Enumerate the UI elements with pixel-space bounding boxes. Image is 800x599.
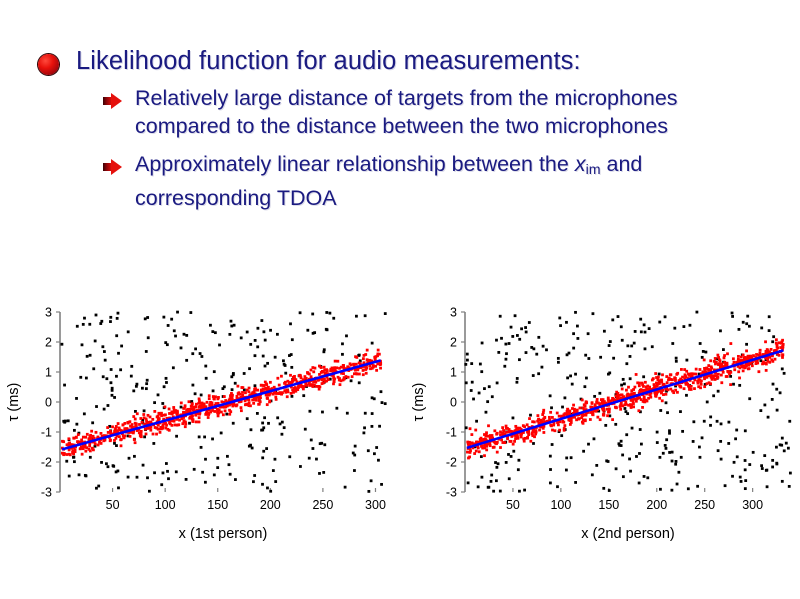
clutter-point [127, 476, 130, 479]
clutter-point [701, 436, 704, 439]
clutter-point [720, 458, 723, 461]
clutter-point [83, 412, 86, 415]
target-point [738, 377, 741, 380]
target-point [473, 452, 476, 455]
target-point [134, 422, 137, 425]
clutter-point [572, 347, 575, 350]
target-point [629, 403, 632, 406]
clutter-point [625, 433, 628, 436]
clutter-point [724, 484, 727, 487]
clutter-point [194, 348, 197, 351]
clutter-point [692, 440, 695, 443]
clutter-point [199, 352, 202, 355]
target-point [315, 385, 318, 388]
target-point [94, 443, 97, 446]
target-point [693, 373, 696, 376]
target-point [624, 403, 627, 406]
red-sphere-bullet-icon [38, 54, 59, 75]
clutter-point [216, 457, 219, 460]
target-point [723, 354, 726, 357]
target-point [209, 404, 212, 407]
target-point [248, 398, 251, 401]
clutter-point [705, 351, 708, 354]
target-point [191, 402, 194, 405]
clutter-point [288, 455, 291, 458]
target-point [695, 368, 698, 371]
target-point [506, 427, 509, 430]
target-point [166, 428, 169, 431]
clutter-point [772, 335, 775, 338]
clutter-point [341, 342, 344, 345]
target-point [747, 355, 750, 358]
target-point [703, 367, 706, 370]
target-point [100, 432, 103, 435]
target-point [499, 446, 502, 449]
clutter-point [608, 489, 611, 492]
clutter-point [658, 321, 661, 324]
clutter-point [731, 475, 734, 478]
linear-fit-line [467, 350, 783, 448]
target-point [742, 369, 745, 372]
clutter-point [254, 384, 257, 387]
clutter-point [549, 394, 552, 397]
target-point [349, 362, 352, 365]
clutter-point [85, 377, 88, 380]
scatter-plot-1st-person: -3-2-1012350100150200250300x (1st person… [0, 300, 400, 550]
clutter-point [232, 422, 235, 425]
clutter-point [143, 435, 146, 438]
target-point [111, 425, 114, 428]
target-point [332, 379, 335, 382]
clutter-point [212, 389, 215, 392]
target-point [533, 421, 536, 424]
target-point [177, 423, 180, 426]
target-point [286, 380, 289, 383]
target-point [192, 420, 195, 423]
target-point [765, 357, 768, 360]
clutter-point [113, 396, 116, 399]
target-point [688, 388, 691, 391]
clutter-point [203, 436, 206, 439]
clutter-point [618, 444, 621, 447]
target-point [674, 377, 677, 380]
clutter-point [734, 437, 737, 440]
clutter-point [783, 372, 786, 375]
clutter-point [204, 481, 207, 484]
clutter-point [687, 487, 690, 490]
clutter-point [658, 373, 661, 376]
clutter-point [94, 340, 97, 343]
y-tick-label: 3 [450, 306, 457, 320]
clutter-point [523, 489, 526, 492]
target-point [496, 451, 499, 454]
target-point [377, 349, 380, 352]
target-point [513, 440, 516, 443]
target-point [216, 412, 219, 415]
clutter-point [698, 446, 701, 449]
clutter-point [291, 338, 294, 341]
clutter-point [640, 443, 643, 446]
target-point [626, 394, 629, 397]
clutter-point [634, 330, 637, 333]
clutter-point [659, 488, 662, 491]
clutter-point [671, 489, 674, 492]
target-point [680, 368, 683, 371]
clutter-point [174, 335, 177, 338]
clutter-point [229, 473, 232, 476]
target-point [716, 377, 719, 380]
target-point [599, 418, 602, 421]
target-point [236, 385, 239, 388]
target-point [100, 442, 103, 445]
clutter-point [541, 366, 544, 369]
clutter-point [668, 432, 671, 435]
target-point [683, 387, 686, 390]
target-point [762, 361, 765, 364]
clutter-point [677, 471, 680, 474]
target-point [266, 387, 269, 390]
target-point [184, 404, 187, 407]
target-point [693, 387, 696, 390]
clutter-point [595, 464, 598, 467]
clutter-point [572, 332, 575, 335]
target-point [376, 354, 379, 357]
clutter-point [384, 312, 387, 315]
clutter-point [529, 414, 532, 417]
clutter-point [200, 394, 203, 397]
target-point [536, 414, 539, 417]
clutter-point [656, 441, 659, 444]
x-tick-label: 150 [598, 498, 619, 512]
target-point [184, 421, 187, 424]
clutter-point [639, 428, 642, 431]
clutter-point [322, 471, 325, 474]
clutter-point [500, 337, 503, 340]
clutter-point [685, 359, 688, 362]
x-tick-label: 150 [207, 498, 228, 512]
target-point [732, 357, 735, 360]
clutter-point [180, 406, 183, 409]
target-point [502, 429, 505, 432]
target-point [541, 413, 544, 416]
clutter-point [240, 336, 243, 339]
bullet-item-2: Approximately linear relationship betwee… [0, 151, 800, 212]
clutter-point [262, 426, 265, 429]
clutter-point [608, 371, 611, 374]
target-point [323, 369, 326, 372]
target-point [542, 431, 545, 434]
clutter-point [775, 388, 778, 391]
clutter-point [266, 362, 269, 365]
clutter-point [569, 375, 572, 378]
target-point [564, 412, 567, 415]
clutter-point [367, 490, 370, 493]
clutter-point [261, 483, 264, 486]
x-axis-title: x (2nd person) [581, 526, 675, 542]
clutter-point [264, 365, 267, 368]
clutter-point [65, 460, 68, 463]
clutter-point [717, 449, 720, 452]
clutter-point [267, 422, 270, 425]
target-point [668, 377, 671, 380]
target-point [163, 414, 166, 417]
target-point [703, 377, 706, 380]
target-point [636, 381, 639, 384]
clutter-point [353, 469, 356, 472]
clutter-point [231, 388, 234, 391]
target-point [483, 454, 486, 457]
target-point [358, 373, 361, 376]
target-point [156, 416, 159, 419]
target-point [346, 365, 349, 368]
target-point [326, 369, 329, 372]
target-point [778, 341, 781, 344]
bullet-item-1: Relatively large distance of targets fro… [0, 85, 800, 140]
target-point [561, 421, 564, 424]
target-point [764, 340, 767, 343]
clutter-point [583, 385, 586, 388]
target-point [619, 405, 622, 408]
clutter-point [478, 392, 481, 395]
x-tick-label: 50 [506, 498, 520, 512]
target-point [174, 424, 177, 427]
target-point [293, 375, 296, 378]
clutter-point [779, 391, 782, 394]
target-point [136, 412, 139, 415]
clutter-point [63, 421, 66, 424]
target-point [339, 383, 342, 386]
clutter-point [745, 322, 748, 325]
target-point [266, 397, 269, 400]
clutter-point [162, 472, 165, 475]
target-point [526, 423, 529, 426]
target-point [475, 450, 478, 453]
bullet-item-2-label: Approximately linear relationship betwee… [135, 151, 760, 212]
plot-canvas: -3-2-1012350100150200250300x (1st person… [0, 300, 400, 550]
clutter-point [626, 412, 629, 415]
y-axis-title: τ (ms) [6, 383, 22, 422]
target-point [747, 364, 750, 367]
target-point [675, 373, 678, 376]
clutter-point [145, 387, 148, 390]
target-point [514, 425, 517, 428]
clutter-point [587, 443, 590, 446]
target-point [129, 435, 132, 438]
clutter-point [495, 339, 498, 342]
target-point [143, 416, 146, 419]
clutter-point [510, 455, 513, 458]
bullet-2-variable: x [575, 152, 586, 176]
clutter-point [323, 443, 326, 446]
target-point [617, 392, 620, 395]
clutter-point [603, 330, 606, 333]
target-point [240, 386, 243, 389]
clutter-point [640, 330, 643, 333]
clutter-point [615, 467, 618, 470]
clutter-point [665, 401, 668, 404]
target-point [206, 401, 209, 404]
target-point [487, 424, 490, 427]
clutter-point [494, 461, 497, 464]
clutter-point [95, 314, 98, 317]
clutter-point [510, 326, 513, 329]
target-point [759, 349, 762, 352]
clutter-point [311, 313, 314, 316]
target-point [726, 362, 729, 365]
target-point [533, 430, 536, 433]
clutter-point [490, 474, 493, 477]
target-point [611, 418, 614, 421]
clutter-point [91, 421, 94, 424]
target-point [246, 403, 249, 406]
clutter-point [766, 485, 769, 488]
clutter-point [629, 377, 632, 380]
target-point [474, 429, 477, 432]
clutter-point [75, 423, 78, 426]
clutter-point [574, 311, 577, 314]
clutter-point [514, 314, 517, 317]
clutter-point [128, 457, 131, 460]
clutter-point [226, 455, 229, 458]
clutter-point [666, 411, 669, 414]
clutter-point [549, 482, 552, 485]
clutter-point [175, 435, 178, 438]
clutter-point [100, 461, 103, 464]
target-point [637, 409, 640, 412]
clutter-point [304, 428, 307, 431]
clutter-point [211, 438, 214, 441]
target-point [121, 424, 124, 427]
target-point [656, 382, 659, 385]
target-point [153, 410, 156, 413]
clutter-point [170, 318, 173, 321]
clutter-point [299, 465, 302, 468]
clutter-point [165, 462, 168, 465]
clutter-point [598, 392, 601, 395]
clutter-point [614, 423, 617, 426]
clutter-point [109, 320, 112, 323]
target-point [558, 415, 561, 418]
clutter-point [505, 358, 508, 361]
clutter-point [132, 389, 135, 392]
clutter-point [712, 394, 715, 397]
clutter-point [481, 342, 484, 345]
clutter-point [525, 331, 528, 334]
clutter-point [465, 381, 468, 384]
target-point [581, 399, 584, 402]
target-point [781, 339, 784, 342]
clutter-point [671, 342, 674, 345]
clutter-point [659, 409, 662, 412]
clutter-point [290, 366, 293, 369]
clutter-point [256, 412, 259, 415]
target-point [699, 368, 702, 371]
clutter-point [318, 472, 321, 475]
target-point [109, 439, 112, 442]
target-point [652, 377, 655, 380]
clutter-point [717, 390, 720, 393]
target-point [701, 371, 704, 374]
target-point [334, 360, 337, 363]
clutter-point [775, 446, 778, 449]
target-point [152, 433, 155, 436]
target-point [91, 447, 94, 450]
clutter-point [763, 454, 766, 457]
clutter-point [507, 453, 510, 456]
clutter-point [272, 469, 275, 472]
clutter-point [504, 343, 507, 346]
clutter-point [557, 357, 560, 360]
target-point [269, 381, 272, 384]
clutter-point [490, 480, 493, 483]
clutter-point [269, 329, 272, 332]
clutter-point [630, 345, 633, 348]
x-tick-label: 250 [694, 498, 715, 512]
target-point [362, 357, 365, 360]
target-point [520, 433, 523, 436]
clutter-point [289, 322, 292, 325]
clutter-point [781, 367, 784, 370]
clutter-point [213, 473, 216, 476]
target-point [697, 385, 700, 388]
target-point [81, 453, 84, 456]
target-point [483, 433, 486, 436]
target-point [314, 367, 317, 370]
clutter-point [785, 442, 788, 445]
clutter-point [703, 420, 706, 423]
y-tick-label: -1 [446, 426, 457, 440]
target-point [729, 383, 732, 386]
target-point [775, 338, 778, 341]
clutter-point [565, 457, 568, 460]
clutter-point [608, 344, 611, 347]
clutter-point [744, 429, 747, 432]
clutter-point [146, 476, 149, 479]
clutter-point [73, 460, 76, 463]
target-point [638, 396, 641, 399]
target-point [570, 421, 573, 424]
target-point [173, 411, 176, 414]
clutter-point [103, 350, 106, 353]
clutter-point [593, 437, 596, 440]
target-point [181, 422, 184, 425]
target-point [318, 373, 321, 376]
target-point [638, 390, 641, 393]
target-point [212, 397, 215, 400]
clutter-point [261, 422, 264, 425]
target-point [720, 374, 723, 377]
target-point [333, 366, 336, 369]
clutter-point [218, 344, 221, 347]
clutter-point [744, 479, 747, 482]
target-point [216, 408, 219, 411]
clutter-point [161, 402, 164, 405]
target-point [113, 439, 116, 442]
clutter-point [160, 483, 163, 486]
clutter-point [284, 372, 287, 375]
target-point [159, 431, 162, 434]
target-point [249, 404, 252, 407]
target-point [621, 388, 624, 391]
clutter-point [209, 324, 212, 327]
clutter-point [308, 457, 311, 460]
target-point [469, 427, 472, 430]
target-point [491, 434, 494, 437]
clutter-point [622, 475, 625, 478]
target-point [654, 394, 657, 397]
target-point [151, 418, 154, 421]
clutter-point [516, 334, 519, 337]
